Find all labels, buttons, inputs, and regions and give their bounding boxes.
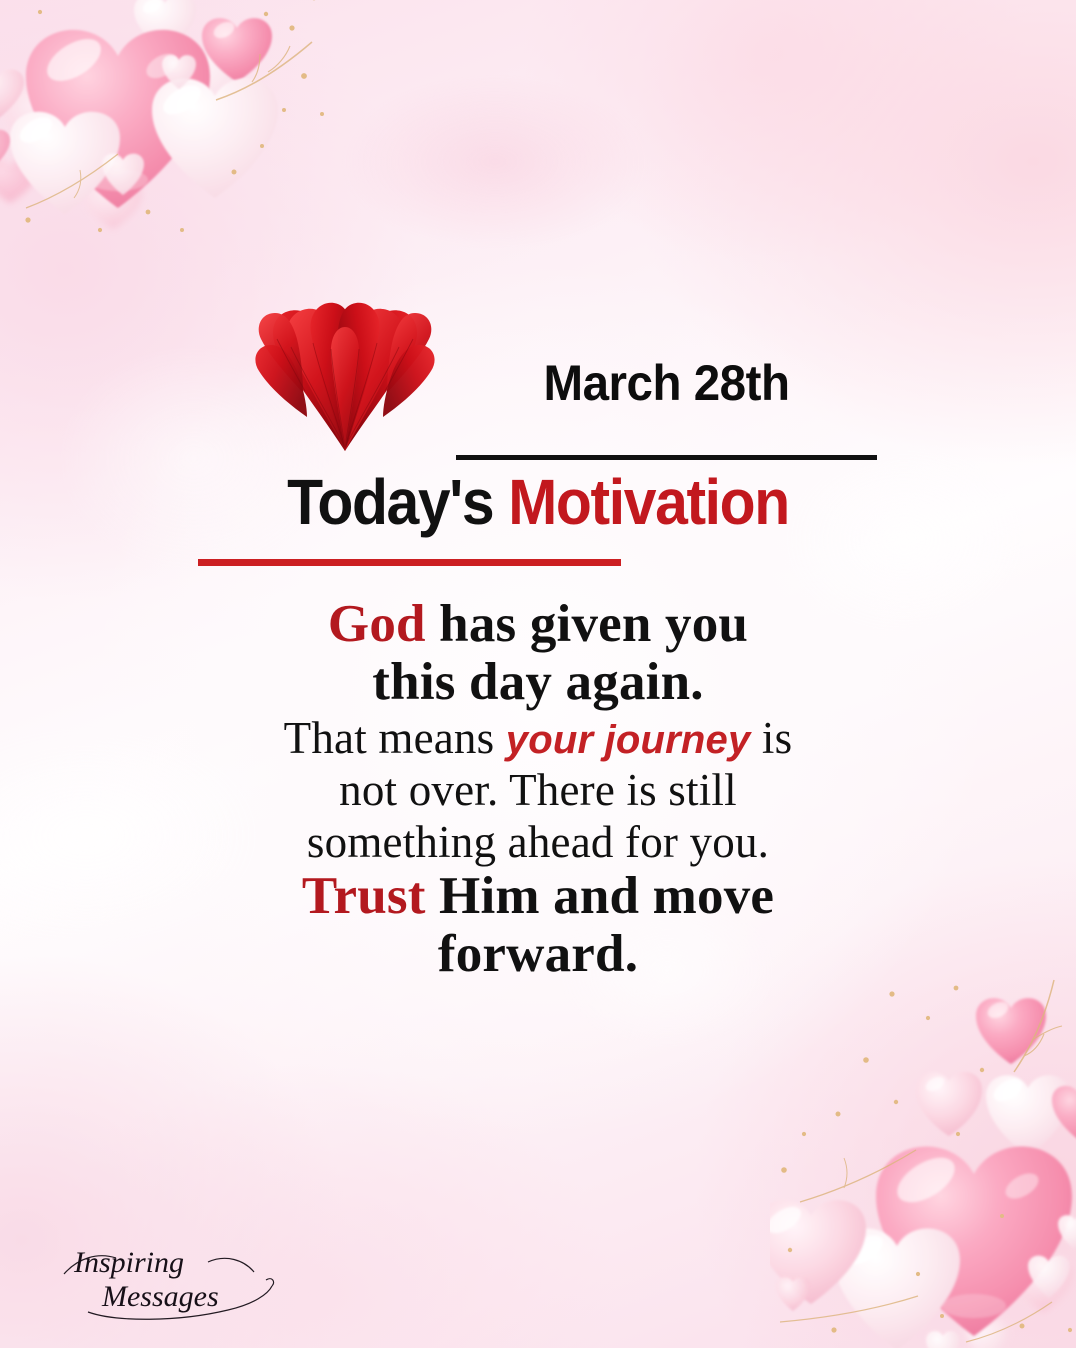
- quote-segment: this day again.: [372, 653, 703, 711]
- petal-heart-icon: [247, 283, 443, 459]
- date-label: March 28th: [467, 358, 867, 408]
- poster-content: March 28th Today's Motivation God has gi…: [0, 0, 1076, 1348]
- quote-segment: Trust: [302, 867, 426, 925]
- watermark-line-1: Inspiring: [73, 1246, 184, 1279]
- motivation-poster: March 28th Today's Motivation God has gi…: [0, 0, 1076, 1348]
- divider-red: [198, 559, 621, 566]
- quote-line-l7: forward.: [0, 926, 1076, 984]
- quote-line-l2: this day again.: [0, 654, 1076, 712]
- inspiring-messages-signature-icon: Inspiring Messages: [58, 1232, 288, 1320]
- quote-segment: Him and move: [426, 867, 775, 925]
- brand-watermark: Inspiring Messages: [58, 1232, 288, 1320]
- watermark-line-2: Messages: [101, 1280, 219, 1313]
- quote-segment: forward.: [438, 925, 638, 983]
- quote-segment: is: [750, 713, 792, 763]
- quote-segment: something ahead for you.: [307, 817, 769, 867]
- quote-segment: God: [328, 595, 426, 653]
- quote-segment: your journey: [506, 718, 751, 762]
- quote-line-l1: God has given you: [0, 596, 1076, 654]
- quote-segment: That means: [284, 713, 506, 763]
- quote-segment: not over. There is still: [339, 765, 737, 815]
- quote-segment: has given you: [426, 595, 748, 653]
- quote-line-l5: something ahead for you.: [0, 816, 1076, 868]
- quote-line-l4: not over. There is still: [0, 764, 1076, 816]
- page-title: Today's Motivation: [43, 470, 1033, 534]
- quote-line-l3: That means your journey is: [0, 712, 1076, 764]
- title-part-motivation: Motivation: [508, 466, 789, 538]
- quote-line-l6: Trust Him and move: [0, 868, 1076, 926]
- title-part-today: Today's: [287, 466, 508, 538]
- divider-black: [456, 455, 877, 460]
- quote-block: God has given youthis day again.That mea…: [0, 596, 1076, 984]
